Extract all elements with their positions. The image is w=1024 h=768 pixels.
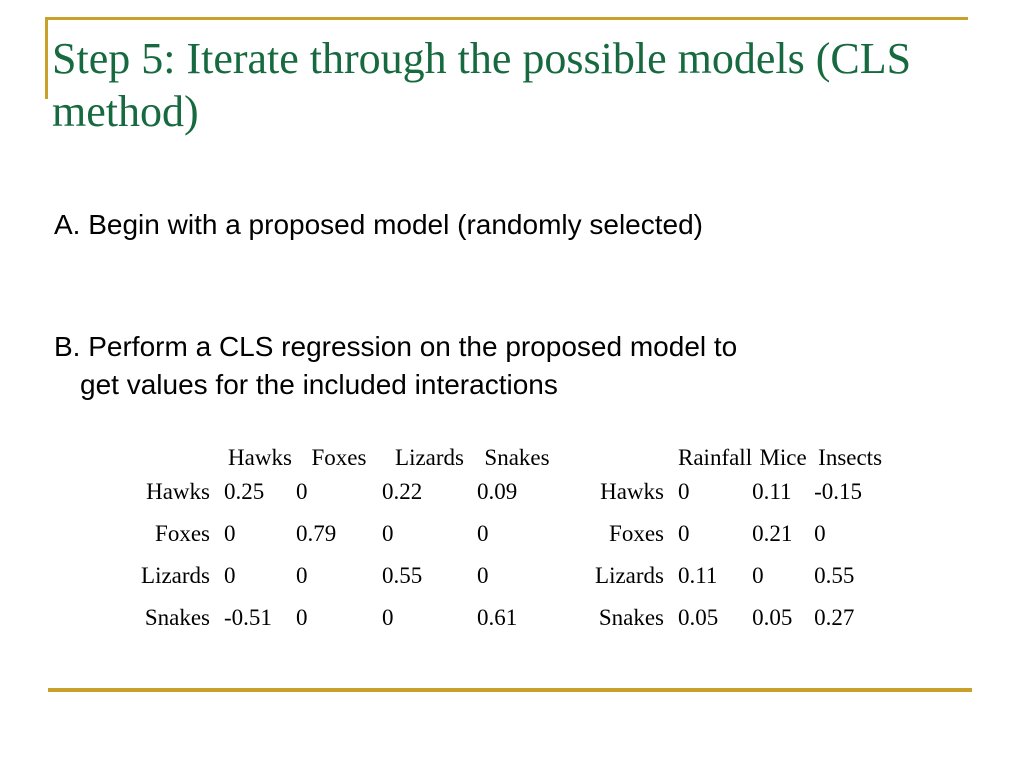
column-header: Foxes	[296, 445, 382, 479]
species-interaction-matrix: Hawks Foxes Lizards Snakes Hawks 0.25 0 …	[128, 445, 557, 647]
left-gold-accent-bar	[45, 17, 48, 99]
table-row: Foxes 0 0.21 0	[588, 521, 886, 563]
matrix-cell: 0	[224, 563, 296, 605]
matrix-cell: 0	[224, 521, 296, 563]
row-header: Hawks	[588, 479, 678, 521]
table-row: Snakes -0.51 0 0 0.61	[128, 605, 557, 647]
matrix-cell: 0	[678, 479, 752, 521]
matrix-cell: 0	[752, 563, 814, 605]
table-header-row: Rainfall Mice Insects	[588, 445, 886, 479]
matrix-cell: 0.79	[296, 521, 382, 563]
row-header: Lizards	[128, 563, 224, 605]
matrix-corner-cell	[128, 445, 224, 479]
matrix-cell: 0	[477, 521, 557, 563]
table-row: Hawks 0 0.11 -0.15	[588, 479, 886, 521]
matrix-cell: 0	[477, 563, 557, 605]
matrix-cell: 0.61	[477, 605, 557, 647]
matrix-cell: 0	[296, 563, 382, 605]
matrix-cell: 0	[382, 605, 477, 647]
column-header: Mice	[752, 445, 814, 479]
matrix-cell: 0.22	[382, 479, 477, 521]
table-row: Snakes 0.05 0.05 0.27	[588, 605, 886, 647]
matrix-cell: 0.55	[382, 563, 477, 605]
row-header: Snakes	[128, 605, 224, 647]
slide-title: Step 5: Iterate through the possible mod…	[52, 32, 982, 138]
matrix-cell: 0.55	[814, 563, 886, 605]
matrix-cell: 0.05	[752, 605, 814, 647]
row-header: Lizards	[588, 563, 678, 605]
table-header-row: Hawks Foxes Lizards Snakes	[128, 445, 557, 479]
table-row: Foxes 0 0.79 0 0	[128, 521, 557, 563]
matrix-cell: 0	[296, 479, 382, 521]
table-row: Hawks 0.25 0 0.22 0.09	[128, 479, 557, 521]
matrix-cell: 0.09	[477, 479, 557, 521]
table-row: Lizards 0 0 0.55 0	[128, 563, 557, 605]
matrix-cell: -0.15	[814, 479, 886, 521]
column-header: Snakes	[477, 445, 557, 479]
top-gold-rule	[45, 17, 968, 20]
matrix-corner-cell	[588, 445, 678, 479]
bullet-b: B. Perform a CLS regression on the propo…	[54, 290, 974, 442]
matrix-cell: 0	[678, 521, 752, 563]
column-header: Hawks	[224, 445, 296, 479]
environment-interaction-matrix: Rainfall Mice Insects Hawks 0 0.11 -0.15…	[588, 445, 886, 647]
matrix-cell: 0.27	[814, 605, 886, 647]
matrix-cell: 0.11	[678, 563, 752, 605]
matrix-cell: 0.21	[752, 521, 814, 563]
matrix-cell: 0.11	[752, 479, 814, 521]
matrix-cell: 0	[814, 521, 886, 563]
matrix-cell: 0	[382, 521, 477, 563]
matrix-cell: 0.05	[678, 605, 752, 647]
column-header: Insects	[814, 445, 886, 479]
row-header: Hawks	[128, 479, 224, 521]
row-header: Foxes	[128, 521, 224, 563]
matrix-cell: 0	[296, 605, 382, 647]
column-header: Lizards	[382, 445, 477, 479]
table-row: Lizards 0.11 0 0.55	[588, 563, 886, 605]
slide-body: A. Begin with a proposed model (randomly…	[54, 206, 974, 442]
bullet-b-line1: B. Perform a CLS regression on the propo…	[54, 331, 737, 362]
matrix-cell: -0.51	[224, 605, 296, 647]
bottom-gold-rule	[48, 688, 972, 692]
bullet-b-line2: get values for the included interactions	[54, 366, 974, 404]
column-header: Rainfall	[678, 445, 752, 479]
matrix-cell: 0.25	[224, 479, 296, 521]
matrix-area: Hawks Foxes Lizards Snakes Hawks 0.25 0 …	[0, 440, 1024, 655]
row-header: Foxes	[588, 521, 678, 563]
bullet-a: A. Begin with a proposed model (randomly…	[54, 206, 974, 244]
row-header: Snakes	[588, 605, 678, 647]
